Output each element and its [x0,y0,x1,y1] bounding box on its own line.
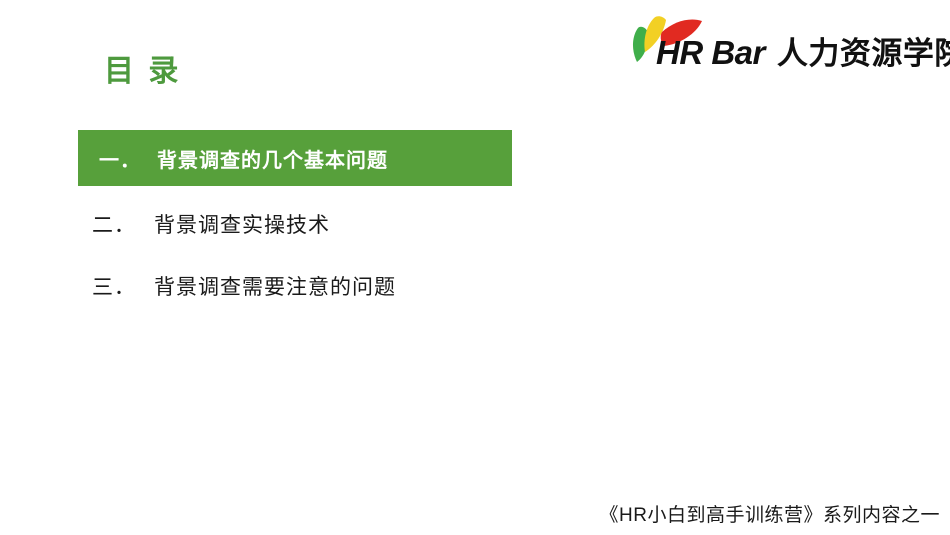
toc-item-2[interactable]: 二． 背景调查实操技术 [78,200,678,248]
toc-item-3-label: 背景调查需要注意的问题 [154,271,396,301]
footer-series-note: 《HR小白到高手训练营》系列内容之一 [600,500,940,527]
table-of-contents: 一． 背景调查的几个基本问题 二． 背景调查实操技术 三． 背景调查需要注意的问… [78,130,678,324]
brand-logo: HR Bar 人力资源学院 [624,8,942,70]
logo-chinese-text: 人力资源学院 [777,38,950,69]
toc-item-1-number: 一． [99,144,141,173]
toc-item-3[interactable]: 三． 背景调查需要注意的问题 [78,262,678,310]
slide-canvas: HR Bar 人力资源学院 目 录 一． 背景调查的几个基本问题 二． 背景调查… [0,0,950,535]
toc-item-1-label: 背景调查的几个基本问题 [157,144,388,173]
toc-item-2-number: 二． [92,209,136,239]
toc-item-2-label: 背景调查实操技术 [154,209,330,239]
logo-wordmark: HR Bar 人力资源学院 [656,36,950,72]
toc-item-1[interactable]: 一． 背景调查的几个基本问题 [78,130,512,186]
toc-item-3-number: 三． [92,271,136,301]
logo-latin-text: HR Bar [656,36,765,69]
page-title: 目 录 [104,55,181,88]
